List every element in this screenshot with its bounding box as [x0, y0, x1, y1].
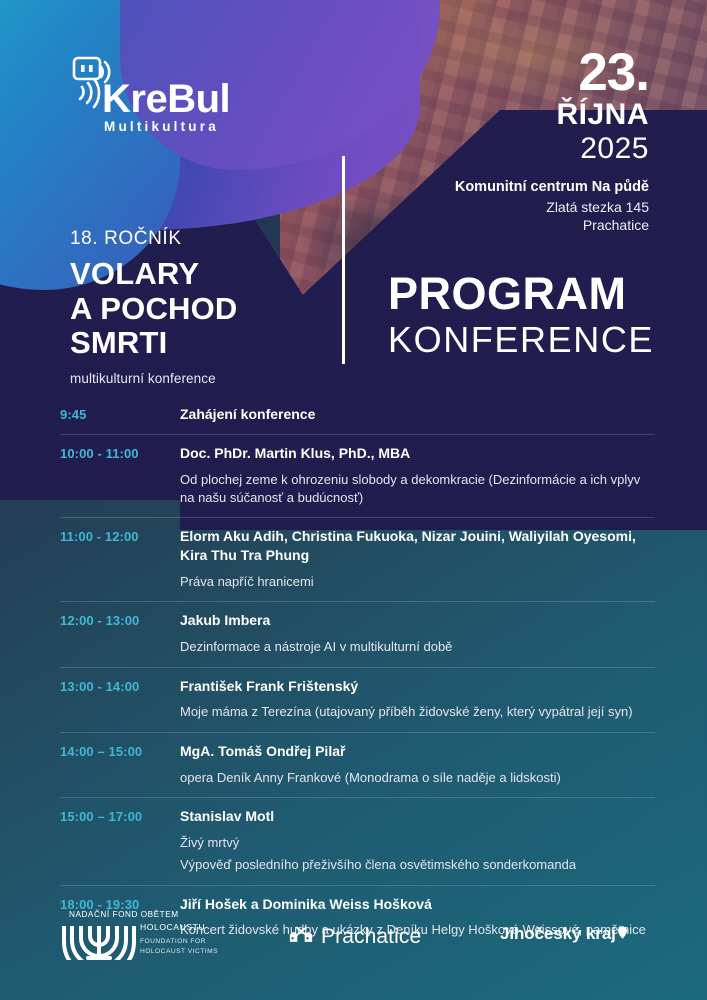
schedule-time: 12:00 - 13:00 [60, 611, 180, 656]
program-heading-line-1: PROGRAM [388, 270, 654, 318]
date-month: ŘÍJNA [349, 98, 649, 132]
schedule-time: 14:00 – 15:00 [60, 742, 180, 787]
event-date: 23. ŘÍJNA 2025 [349, 48, 649, 165]
nfoh-logo: NADAČNÍ FOND OBĚTEM HOLOCAUSTU FOUNDATIO… [62, 910, 277, 966]
schedule-talk: Moje máma z Terezína (utajovaný příběh ž… [180, 703, 655, 721]
schedule-row: 10:00 - 11:00 Doc. PhDr. Martin Klus, Ph… [60, 434, 655, 518]
krebul-logo: KreBul Multikultura [70, 55, 250, 140]
schedule-content: Stanislav Motl Živý mrtvý Výpověď posled… [180, 807, 655, 875]
schedule-list: 9:45 Zahájení konference 10:00 - 11:00 D… [60, 396, 655, 950]
schedule-talk: Práva napříč hranicemi [180, 573, 655, 591]
event-title-block: 18. ROČNÍK VOLARY A POCHOD SMRTI multiku… [70, 228, 340, 386]
sponsor-footer: NADAČNÍ FOND OBĚTEM HOLOCAUSTU FOUNDATIO… [0, 910, 707, 972]
schedule-speaker: Elorm Aku Adih, Christina Fukuoka, Nizar… [180, 527, 655, 565]
program-heading: PROGRAM KONFERENCE [388, 270, 654, 359]
schedule-talk: opera Deník Anny Frankové (Monodrama o s… [180, 769, 655, 787]
venue-name: Komunitní centrum Na půdě [309, 178, 649, 198]
schedule-content: Jakub Imbera Dezinformace a nástroje AI … [180, 611, 655, 656]
schedule-content: Elorm Aku Adih, Christina Fukuoka, Nizar… [180, 527, 655, 591]
edition-label: 18. ROČNÍK [70, 228, 340, 250]
schedule-time: 11:00 - 12:00 [60, 527, 180, 591]
title-line-1: VOLARY [70, 257, 340, 292]
schedule-talk: Živý mrtvý [180, 834, 655, 852]
prachatice-label: Prachatice [321, 925, 421, 949]
event-venue: Komunitní centrum Na půdě Zlatá stezka 1… [309, 178, 649, 235]
schedule-time: 10:00 - 11:00 [60, 444, 180, 508]
date-day: 23. [349, 48, 649, 98]
schedule-row: 13:00 - 14:00 František Frank Frištenský… [60, 667, 655, 732]
schedule-speaker: František Frank Frištenský [180, 677, 655, 696]
poster-canvas: KreBul Multikultura 23. ŘÍJNA 2025 Komun… [0, 0, 707, 1000]
nfoh-line-2: HOLOCAUSTU [140, 922, 205, 932]
program-heading-line-2: KONFERENCE [388, 320, 654, 360]
schedule-content: Doc. PhDr. Martin Klus, PhD., MBA Od plo… [180, 444, 655, 508]
schedule-row: 15:00 – 17:00 Stanislav Motl Živý mrtvý … [60, 797, 655, 885]
schedule-speaker: MgA. Tomáš Ondřej Pilař [180, 742, 655, 761]
schedule-speaker: Doc. PhDr. Martin Klus, PhD., MBA [180, 444, 655, 463]
map-pin-icon [618, 926, 627, 944]
nfoh-line-3: FOUNDATION FOR HOLOCAUST VICTIMS [140, 937, 218, 956]
schedule-speaker: Stanislav Motl [180, 807, 655, 826]
schedule-talk: Dezinformace a nástroje AI v multikultur… [180, 638, 655, 656]
date-year: 2025 [349, 132, 649, 165]
vertical-divider [342, 156, 345, 364]
schedule-content: MgA. Tomáš Ondřej Pilař opera Deník Anny… [180, 742, 655, 787]
schedule-talk-secondary: Výpověď posledního přeživšího člena osvě… [180, 856, 655, 874]
schedule-speaker: Jakub Imbera [180, 611, 655, 630]
schedule-row: 14:00 – 15:00 MgA. Tomáš Ondřej Pilař op… [60, 732, 655, 797]
prachatice-logo: Prachatice [288, 922, 421, 952]
schedule-time: 15:00 – 17:00 [60, 807, 180, 875]
schedule-row: 11:00 - 12:00 Elorm Aku Adih, Christina … [60, 517, 655, 601]
kraj-label: Jihočeský kraj [500, 924, 616, 944]
title-subtitle: multikulturní konference [70, 371, 340, 386]
venue-street: Zlatá stezka 145 [309, 198, 649, 217]
jihocesky-kraj-logo: Jihočeský kraj [500, 924, 627, 944]
logo-tagline: Multikultura [104, 119, 219, 134]
schedule-row: 9:45 Zahájení konference [60, 396, 655, 434]
schedule-speaker: Zahájení konference [180, 405, 655, 424]
schedule-content: František Frank Frištenský Moje máma z T… [180, 677, 655, 722]
menorah-icon [62, 920, 136, 960]
schedule-time: 13:00 - 14:00 [60, 677, 180, 722]
nfoh-line-1: NADAČNÍ FOND OBĚTEM [69, 910, 179, 919]
schedule-content: Zahájení konference [180, 405, 655, 424]
venue-city: Prachatice [309, 216, 649, 235]
schedule-row: 12:00 - 13:00 Jakub Imbera Dezinformace … [60, 601, 655, 666]
logo-wordmark: KreBul [102, 77, 230, 122]
title-line-2: A POCHOD [70, 292, 340, 327]
schedule-talk: Od plochej zeme k ohrozeniu slobody a de… [180, 471, 655, 508]
schedule-time: 9:45 [60, 405, 180, 424]
title-line-3: SMRTI [70, 326, 340, 361]
crossed-towers-icon [288, 925, 314, 949]
